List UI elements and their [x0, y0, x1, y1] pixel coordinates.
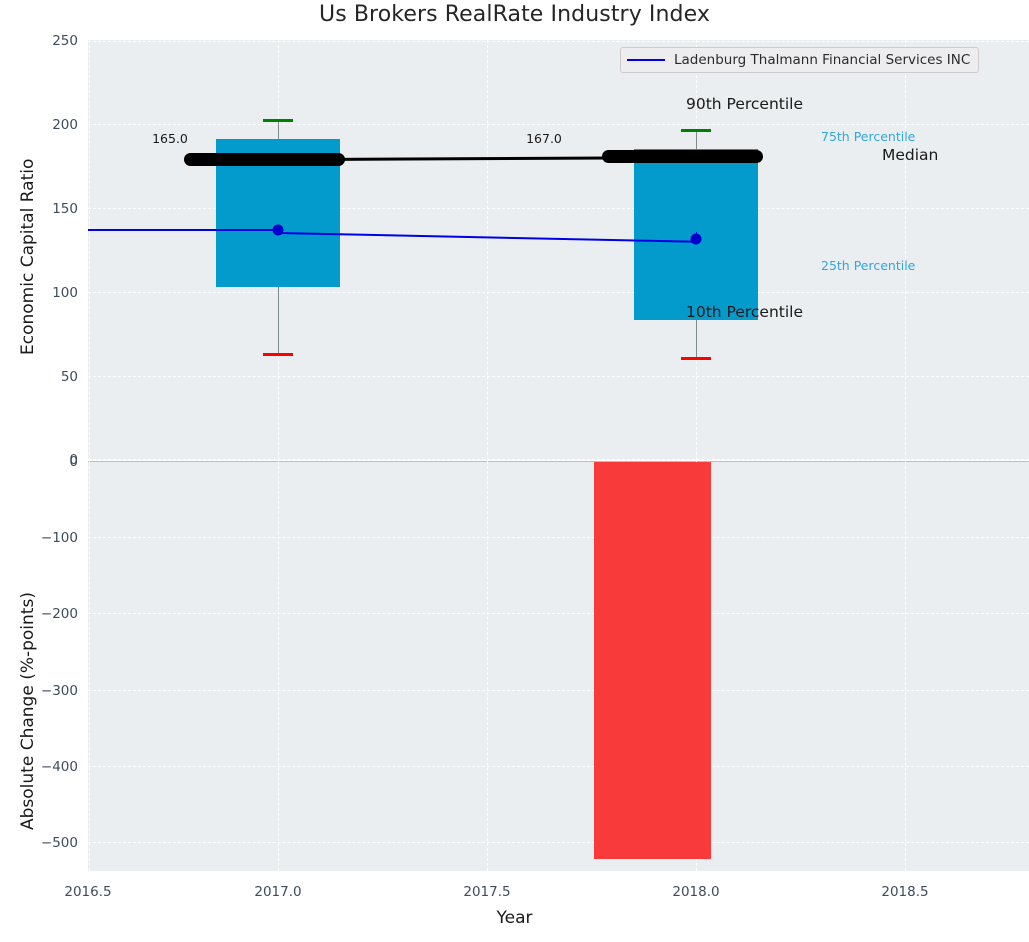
- annotation-25th-percentile: 25th Percentile: [821, 258, 915, 273]
- legend-line-icon: [627, 59, 665, 61]
- xtick-2018-5: 2018.5: [881, 884, 928, 900]
- gridline-y-0: [88, 459, 1029, 460]
- annotation-median: Median: [882, 146, 938, 164]
- ytick-change-neg100: −100: [20, 530, 78, 546]
- annotation-90th-percentile: 90th Percentile: [686, 95, 803, 113]
- xtick-2017-0: 2017.0: [254, 884, 301, 900]
- gridline-y-neg300: [88, 690, 1029, 691]
- gridline-x-2017-0-b: [278, 461, 279, 871]
- zero-axis-line: [88, 461, 1029, 462]
- median-marker-2018: [602, 150, 763, 163]
- company-point-2018: [691, 234, 702, 245]
- xtick-2016-5: 2016.5: [64, 884, 111, 900]
- gridline-y-neg100: [88, 537, 1029, 538]
- gridline-y-neg200: [88, 613, 1029, 614]
- legend-label-0: Ladenburg Thalmann Financial Services IN…: [674, 52, 970, 68]
- gridline-x-2018-5-b: [905, 461, 906, 871]
- company-point-2017: [273, 225, 284, 236]
- y-axis-label-bottom: Absolute Change (%-points): [18, 592, 38, 830]
- gridline-x-2017-5: [487, 40, 488, 460]
- gridline-y-neg500: [88, 842, 1029, 843]
- whisker-cap-high-2017: [263, 119, 293, 122]
- whisker-cap-high-2018: [681, 129, 711, 132]
- ytick-250: 250: [20, 33, 78, 49]
- xtick-2018-0: 2018.0: [672, 884, 719, 900]
- legend[interactable]: Ladenburg Thalmann Financial Services IN…: [620, 47, 979, 73]
- whisker-cap-low-2017: [263, 353, 293, 356]
- gridline-x-2016-5-b: [89, 461, 90, 871]
- annotation-10th-percentile: 10th Percentile: [686, 303, 803, 321]
- gridline-y-50: [88, 376, 1029, 377]
- gridline-y-neg400: [88, 766, 1029, 767]
- company-line-lead: [88, 229, 279, 231]
- panel-absolute-change: [88, 461, 1029, 871]
- annotation-75th-percentile: 75th Percentile: [821, 129, 915, 144]
- gridline-x-2016-5: [89, 40, 90, 460]
- gridline-y-100: [88, 292, 1029, 293]
- change-bar-2018: [594, 462, 711, 859]
- xtick-2017-5: 2017.5: [463, 884, 510, 900]
- ytick-200: 200: [20, 117, 78, 133]
- chart-figure: Us Brokers RealRate Industry Index: [0, 0, 1029, 942]
- y-axis-label-top: Economic Capital Ratio: [18, 159, 38, 355]
- ytick-50: 50: [20, 369, 78, 385]
- gridline-x-2017-5-b: [487, 461, 488, 871]
- ytick-change-neg500: −500: [20, 835, 78, 851]
- page-title: Us Brokers RealRate Industry Index: [0, 2, 1029, 27]
- gridline-y-200: [88, 124, 1029, 125]
- x-axis-label: Year: [0, 908, 1029, 928]
- gridline-x-2018-5: [905, 40, 906, 460]
- panel-economic-capital-ratio: [88, 40, 1029, 460]
- whisker-cap-low-2018: [681, 357, 711, 360]
- ytick-change-0: 0: [20, 454, 78, 470]
- median-value-label-2017: 165.0: [152, 131, 188, 146]
- gridline-y-250: [88, 41, 1029, 42]
- median-value-label-2018: 167.0: [526, 131, 562, 146]
